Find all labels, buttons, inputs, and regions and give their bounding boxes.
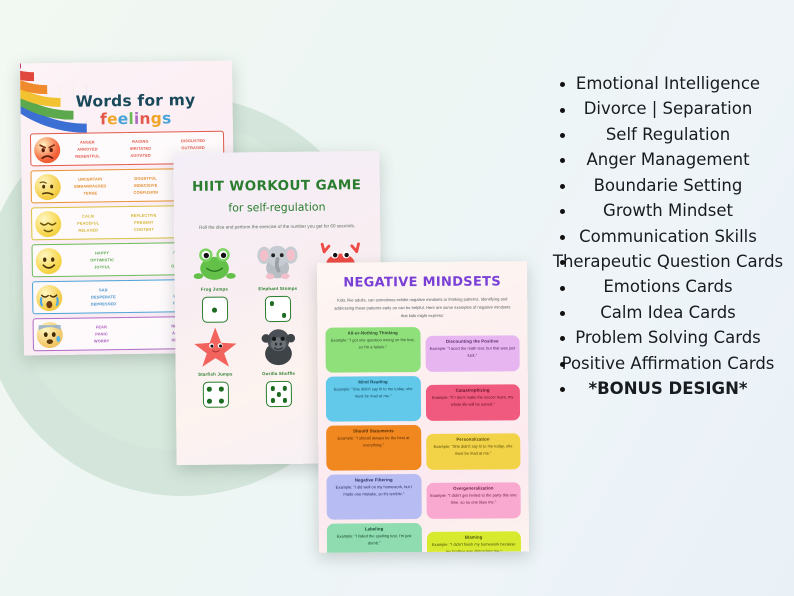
- feature-list-item: Emotions Cards: [548, 275, 788, 298]
- emotion-word: WORRY: [94, 337, 110, 344]
- feature-list-item: Boundarie Setting: [548, 174, 788, 197]
- feature-list-item: Growth Mindset: [548, 199, 788, 222]
- feature-list-item-label: Divorce | Separation: [584, 99, 753, 118]
- feature-list-item-label: Positive Affirmation Cards: [562, 354, 775, 373]
- starfish-icon: [192, 325, 238, 369]
- mindset-box-title: All-or-Nothing Thinking: [329, 330, 416, 336]
- dice-pip: [219, 399, 224, 404]
- hiit-exercise-cell: Gorilla Shuffle: [247, 324, 311, 408]
- mindset-box-example: Example: "She didn't say hi to me today,…: [330, 385, 417, 400]
- product-feature-list: Emotional IntelligenceDivorce | Separati…: [548, 72, 788, 402]
- hiit-subtitle: for self-regulation: [182, 200, 372, 215]
- feature-list-item-label: Self Regulation: [606, 125, 730, 144]
- hiit-exercise-cell: Elephant Stomps: [246, 239, 310, 323]
- feature-list-item: Emotional Intelligence: [548, 72, 788, 95]
- feature-list-item-label: Calm Idea Cards: [600, 303, 736, 322]
- emotion-word-column: HAPPYOPTIMISTICJOYFUL: [90, 249, 114, 271]
- elephant-icon: [254, 239, 300, 283]
- title-letter: e: [118, 110, 129, 128]
- hiit-exercise-cell: Frog Jumps: [182, 240, 246, 324]
- feature-list-item-label: Communication Skills: [579, 227, 757, 246]
- dice-pip: [283, 398, 288, 403]
- feature-list-item: Communication Skills: [548, 225, 788, 248]
- hiit-exercise-label: Elephant Stomps: [258, 286, 297, 291]
- feature-list-item-label: Problem Solving Cards: [575, 328, 761, 347]
- mindset-box-example: Example: "I got one question wrong on th…: [330, 336, 417, 351]
- mindset-box-title: Should Statements: [330, 428, 417, 434]
- bullet-point-icon: [560, 209, 565, 214]
- title-letter: g: [151, 110, 163, 128]
- feature-list-item-label: Emotional Intelligence: [576, 74, 760, 93]
- mindset-box-example: Example: "I didn't get invited to the pa…: [430, 492, 517, 507]
- mindset-box-example: Example: "I should always be the best at…: [330, 434, 417, 449]
- emotion-word: CONTENT: [134, 226, 154, 233]
- dice-face-2: [265, 296, 291, 322]
- mindset-box: PersonalizationExample: "She didn't say …: [426, 433, 521, 470]
- emotion-word: JOYFUL: [94, 263, 110, 270]
- mindset-box-title: Personalization: [430, 436, 517, 442]
- emotion-word-column: DOUBTFULINDECISIVECONFUSION: [133, 174, 158, 196]
- feature-list-item-label: *BONUS DESIGN*: [588, 379, 747, 398]
- card-feelings-title-part2: feelings: [100, 109, 172, 128]
- emotion-word-column: REFLECTIVEPRESENTCONTENT: [131, 211, 157, 233]
- rainbow-band: [20, 61, 47, 96]
- mindsets-title: NEGATIVE MINDSETS: [325, 274, 519, 290]
- dice-pip: [271, 386, 276, 391]
- mindsets-description: Kids, like adults, can sometimes exhibit…: [325, 295, 519, 320]
- feature-list-item-label: Growth Mindset: [603, 201, 733, 220]
- mindset-box-example: Example: "I aced the math test, but that…: [429, 345, 516, 360]
- mindset-box: OvergeneralizationExample: "I didn't get…: [426, 482, 521, 519]
- bullet-point-icon: [560, 158, 565, 163]
- mindset-box-example: Example: "I failed the spelling test, I'…: [331, 532, 418, 547]
- hiit-title: HIIT WORKOUT GAME: [182, 177, 372, 195]
- mindset-box-title: Overgeneralization: [430, 485, 517, 491]
- hiit-exercise-label: Gorilla Shuffle: [262, 371, 295, 376]
- dice-pip: [283, 386, 288, 391]
- emotion-word-column: FEARPANICWORRY: [94, 323, 110, 345]
- mindset-box-title: Labeling: [331, 526, 418, 532]
- title-letter: s: [162, 109, 172, 127]
- dice-pip: [270, 301, 275, 306]
- bullet-point-icon: [560, 311, 565, 316]
- title-letter: n: [139, 110, 151, 128]
- mindset-box-title: Mind Reading: [330, 379, 417, 385]
- emotion-word-column: UNCERTAINEMBARRASSEDTENSE: [74, 175, 106, 197]
- emoji-face-calm: [35, 210, 61, 236]
- dice-face-1: [202, 297, 228, 323]
- feature-list-item-label: Boundarie Setting: [594, 176, 743, 195]
- mindset-box: CatastrophizingExample: "If I don't make…: [425, 384, 520, 421]
- bullet-point-icon: [560, 362, 565, 367]
- mindset-box: BlamingExample: "I didn't finish my home…: [426, 531, 521, 553]
- bullet-point-icon: [560, 235, 565, 240]
- mindset-box-example: Example: "If I don't make the soccer tea…: [429, 394, 516, 409]
- bullet-point-icon: [560, 108, 565, 113]
- hiit-exercise-cell: Starfish Jumps: [183, 325, 247, 409]
- rainbow-band: [20, 61, 21, 70]
- emotion-word: DEPRESSED: [91, 300, 116, 308]
- feature-list-item: *BONUS DESIGN*: [548, 377, 788, 400]
- promo-image-canvas: Words for my feelings ANGERANNOYEDRESENT…: [0, 0, 794, 596]
- rainbow-band: [20, 61, 34, 83]
- card-negative-mindsets[interactable]: NEGATIVE MINDSETS Kids, like adults, can…: [317, 261, 529, 552]
- dice-pip: [212, 308, 217, 313]
- mindset-box: All-or-Nothing ThinkingExample: "I got o…: [325, 327, 420, 373]
- emoji-face-uncertain: [35, 173, 61, 199]
- dice-pip: [219, 387, 224, 392]
- bullet-point-icon: [560, 82, 565, 87]
- hiit-description: Roll the dice and perform the exercise o…: [182, 222, 372, 232]
- feature-list-item: Calm Idea Cards: [548, 301, 788, 324]
- mindset-box-title: Negative Filtering: [330, 477, 417, 483]
- emotion-word: RELAXED: [78, 227, 98, 234]
- bullet-point-icon: [560, 184, 565, 189]
- mindset-box-grid: All-or-Nothing ThinkingExample: "I got o…: [325, 326, 521, 552]
- bullet-point-icon: [560, 286, 565, 291]
- dice-face-4: [202, 382, 228, 408]
- emotion-word: TENSE: [83, 190, 97, 197]
- gorilla-icon: [255, 324, 301, 368]
- emotion-word-column: RAGINGIRRITATEDAGITATED: [130, 137, 152, 159]
- dice-pip: [282, 313, 287, 318]
- feature-list-item-label: Therapeutic Question Cards: [553, 252, 783, 271]
- emoji-face-fear: [37, 321, 63, 347]
- bullet-point-icon: [560, 387, 565, 392]
- emotion-word-column: ANGERANNOYEDRESENTFUL: [75, 138, 100, 160]
- mindset-box-title: Blaming: [430, 534, 517, 540]
- feature-list-item: Positive Affirmation Cards: [548, 352, 788, 375]
- card-feelings-title: Words for my feelings: [45, 91, 225, 130]
- dice-pip: [277, 392, 282, 397]
- emotion-word-column: SADDESPERATEDEPRESSED: [91, 286, 117, 308]
- mindset-box: Negative FilteringExample: "I did well o…: [326, 474, 421, 520]
- bullet-point-icon: [560, 133, 565, 138]
- mindset-box-title: Discounting the Positive: [429, 338, 516, 344]
- hiit-exercise-label: Starfish Jumps: [198, 372, 233, 377]
- feature-list-item: Problem Solving Cards: [548, 326, 788, 349]
- emoji-face-happy: [36, 247, 62, 273]
- feature-list-item: Divorce | Separation: [548, 97, 788, 120]
- dice-pip: [207, 399, 212, 404]
- feature-list-item: Self Regulation: [548, 123, 788, 146]
- mindset-box-example: Example: "She didn't say hi to me today,…: [430, 443, 517, 458]
- feature-list-item-label: Anger Management: [586, 150, 749, 169]
- emoji-face-anger: [34, 136, 60, 162]
- emotion-word: RESENTFUL: [75, 152, 100, 160]
- dice-face-5: [266, 381, 292, 407]
- mindset-box: Mind ReadingExample: "She didn't say hi …: [326, 376, 421, 422]
- title-letter: e: [107, 110, 118, 128]
- mindset-box: LabelingExample: "I failed the spelling …: [327, 523, 422, 553]
- feature-list-item: Therapeutic Question Cards: [548, 250, 788, 273]
- emotion-word: CONFUSION: [133, 189, 158, 197]
- feature-list-item-label: Emotions Cards: [603, 277, 732, 296]
- bullet-point-icon: [560, 336, 565, 341]
- mindset-box-title: Catastrophizing: [429, 387, 516, 393]
- mindset-box: Discounting the PositiveExample: "I aced…: [425, 335, 520, 372]
- dice-pip: [207, 387, 212, 392]
- dice-pip: [271, 398, 276, 403]
- card-feelings-title-part1: Words for my: [76, 91, 196, 111]
- mindset-box-example: Example: "I didn't finish my homework be…: [430, 541, 517, 553]
- emoji-face-sad: [36, 284, 62, 310]
- mindset-box: Should StatementsExample: "I should alwa…: [326, 425, 421, 471]
- feature-list-item: Anger Management: [548, 148, 788, 171]
- frog-icon: [191, 240, 237, 284]
- emotion-word: AGITATED: [130, 152, 151, 160]
- hiit-exercise-label: Frog Jumps: [201, 287, 228, 292]
- mindset-box-example: Example: "I did well on my homework, but…: [331, 483, 418, 498]
- emotion-word-column: CALMPEACEFULRELAXED: [77, 212, 99, 234]
